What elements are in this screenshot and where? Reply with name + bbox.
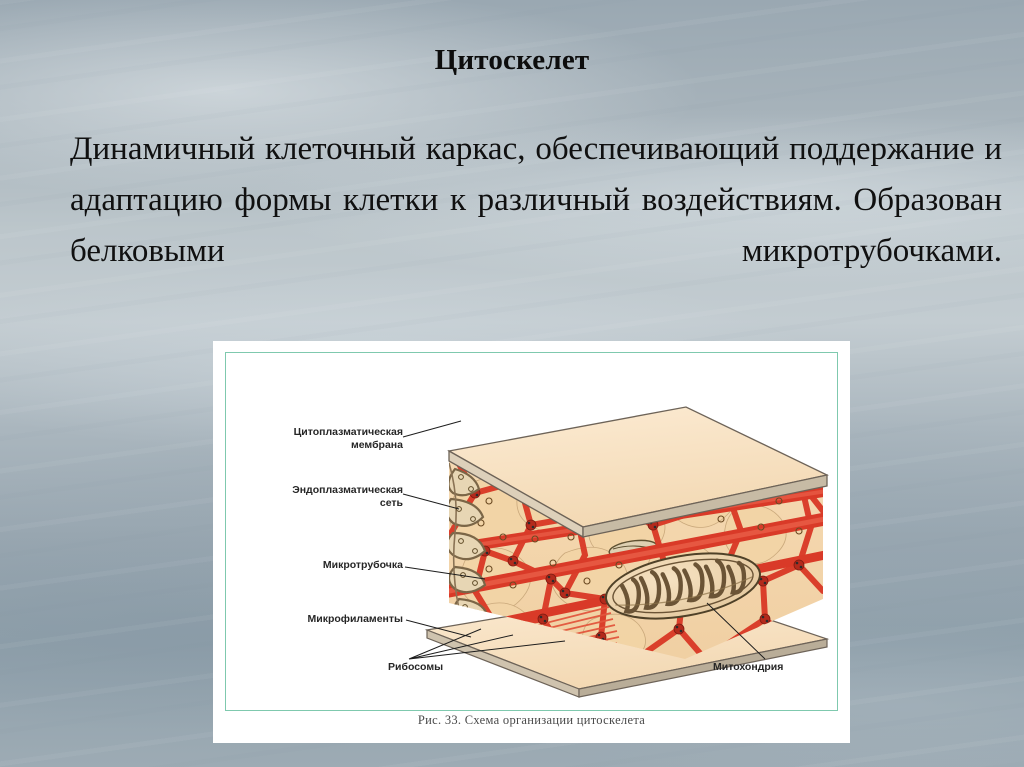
label-microtubule: Микротрубочка: [258, 559, 403, 572]
page-title: Цитоскелет: [0, 44, 1024, 77]
label-microfilaments: Микрофиламенты: [253, 613, 403, 626]
label-cytoplasmic-membrane: Цитоплазматическая мембрана: [243, 426, 403, 452]
label-mitochondria: Митохондрия: [713, 661, 833, 674]
slide-canvas: Цитоскелет Динамичный клеточный каркас, …: [0, 0, 1024, 767]
figure-caption: Рис. 33. Схема организации цитоскелета: [213, 713, 850, 728]
figure-card: Цитоплазматическая мембрана Эндоплазмати…: [213, 341, 850, 743]
label-ribosomes: Рибосомы: [388, 661, 478, 674]
body-paragraph: Динамичный клеточный каркас, обеспечиваю…: [70, 124, 1002, 328]
cytoskeleton-diagram: [213, 341, 850, 711]
label-endoplasmic-reticulum: Эндоплазматическая сеть: [243, 484, 403, 510]
